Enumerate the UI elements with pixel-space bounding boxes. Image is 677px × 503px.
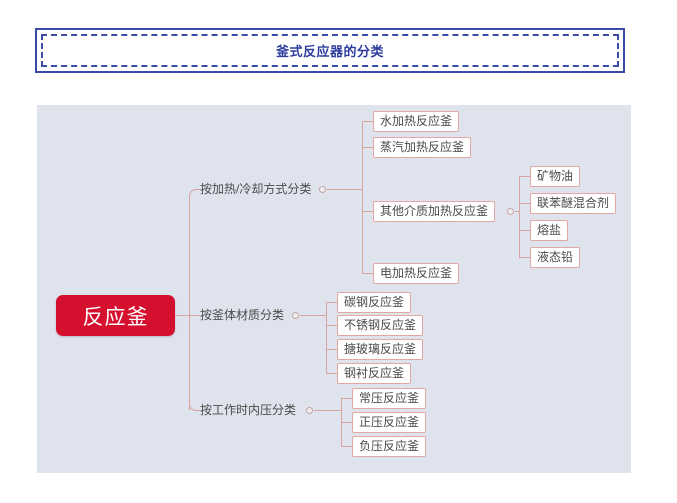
node-positive-pressure-reactor[interactable]: 正压反应釜 bbox=[352, 412, 426, 433]
node-steel-lined-reactor[interactable]: 钢衬反应釜 bbox=[337, 363, 411, 384]
connector-root-stub bbox=[175, 315, 189, 316]
node-electric-heated-reactor[interactable]: 电加热反应釜 bbox=[373, 263, 459, 284]
title-banner-inner-border: 釜式反应器的分类 bbox=[41, 34, 619, 67]
title-banner: 釜式反应器的分类 bbox=[35, 28, 625, 73]
connector-branch1-trunk bbox=[362, 121, 363, 274]
connector-othermedium-child1 bbox=[519, 176, 530, 177]
connector-branch1-child4 bbox=[362, 273, 373, 274]
connector-branch2-child2 bbox=[326, 325, 337, 326]
node-carbon-steel-reactor[interactable]: 碳钢反应釜 bbox=[337, 292, 411, 313]
connector-branch1-child3 bbox=[362, 211, 373, 212]
connector-root-trunk bbox=[189, 196, 190, 410]
connector-branch1-child1 bbox=[362, 121, 373, 122]
connector-othermedium-child3 bbox=[519, 230, 530, 231]
collapse-circle-icon-branch-1[interactable] bbox=[319, 186, 326, 193]
connector-branch2-child1 bbox=[326, 302, 337, 303]
node-diphenyl-ether-mixture[interactable]: 联苯醚混合剂 bbox=[530, 193, 616, 214]
connector-branch2-child4 bbox=[326, 373, 337, 374]
connector-branch3-child3 bbox=[341, 446, 352, 447]
connector-corner-branch1 bbox=[189, 189, 197, 197]
node-water-heated-reactor[interactable]: 水加热反应釜 bbox=[373, 111, 459, 132]
connector-branch1-out bbox=[327, 189, 362, 190]
mindmap-canvas[interactable]: 反应釜 按加热/冷却方式分类 水加热反应釜 蒸汽加热反应釜 其他介质加热反应釜 bbox=[37, 105, 631, 473]
node-mineral-oil[interactable]: 矿物油 bbox=[530, 166, 580, 187]
connector-branch1-child2 bbox=[362, 147, 373, 148]
mindmap-page: 釜式反应器的分类 反应釜 按加热/冷却方式分类 bbox=[0, 0, 677, 503]
page-title: 釜式反应器的分类 bbox=[276, 41, 384, 60]
branch-1-label[interactable]: 按加热/冷却方式分类 bbox=[200, 182, 311, 196]
root-node-label: 反应釜 bbox=[83, 301, 149, 331]
branch-3-label[interactable]: 按工作时内压分类 bbox=[200, 403, 296, 417]
mindmap-root-node[interactable]: 反应釜 bbox=[56, 295, 175, 336]
connector-othermedium-trunk bbox=[519, 176, 520, 258]
connector-branch2-child3 bbox=[326, 349, 337, 350]
collapse-circle-icon-branch-2[interactable] bbox=[292, 312, 299, 319]
node-negative-pressure-reactor[interactable]: 负压反应釜 bbox=[352, 436, 426, 457]
connector-othermedium-child2 bbox=[519, 203, 530, 204]
node-molten-salt[interactable]: 熔盐 bbox=[530, 220, 568, 241]
collapse-circle-icon-branch-3[interactable] bbox=[306, 407, 313, 414]
node-steam-heated-reactor[interactable]: 蒸汽加热反应釜 bbox=[373, 137, 471, 158]
connector-othermedium-child4 bbox=[519, 257, 530, 258]
collapse-circle-icon-other-medium[interactable] bbox=[507, 208, 514, 215]
connector-corner-branch3 bbox=[189, 403, 197, 411]
node-other-medium-heated-reactor[interactable]: 其他介质加热反应釜 bbox=[373, 201, 495, 222]
connector-branch2-trunk bbox=[326, 302, 327, 374]
connector-branch3-child1 bbox=[341, 398, 352, 399]
node-glass-lined-reactor[interactable]: 搪玻璃反应釜 bbox=[337, 339, 423, 360]
connector-to-branch2 bbox=[189, 315, 200, 316]
node-stainless-steel-reactor[interactable]: 不锈钢反应釜 bbox=[337, 315, 423, 336]
connector-branch3-child2 bbox=[341, 422, 352, 423]
branch-2-label[interactable]: 按釜体材质分类 bbox=[200, 308, 284, 322]
node-atmospheric-pressure-reactor[interactable]: 常压反应釜 bbox=[352, 388, 426, 409]
connector-branch3-out bbox=[314, 410, 341, 411]
connector-branch2-out bbox=[300, 315, 326, 316]
node-liquid-lead[interactable]: 液态铅 bbox=[530, 247, 580, 268]
